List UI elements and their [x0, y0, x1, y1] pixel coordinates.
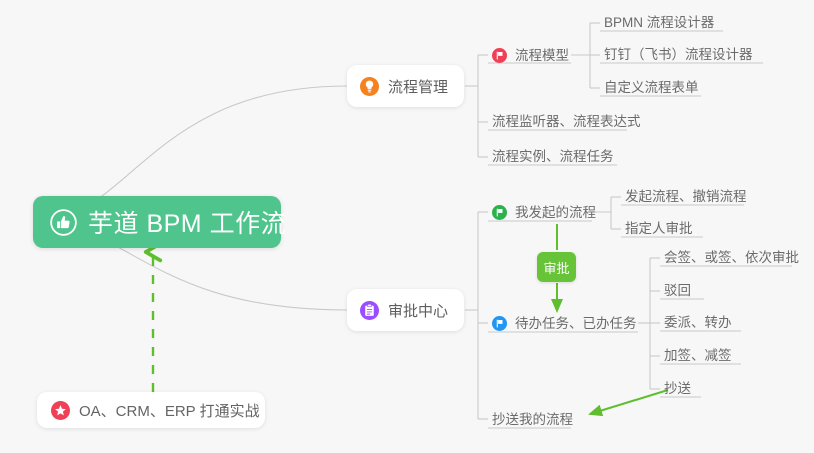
flag-icon [492, 48, 507, 63]
leaf-label: 抄送我的流程 [492, 413, 573, 427]
node-label: 待办任务、已办任务 [515, 317, 637, 331]
leaf-label: 加签、减签 [664, 349, 732, 363]
cc-arrow [590, 390, 668, 414]
leaf-bpmn-designer[interactable]: BPMN 流程设计器 [604, 16, 714, 30]
node-label: 流程模型 [515, 49, 569, 63]
mindmap-canvas: 芋道 BPM 工作流 流程管理 流程模型 BPMN 流程设计器 钉钉（飞书 [0, 0, 814, 453]
node-todo-done-tasks[interactable]: 待办任务、已办任务 [492, 316, 637, 331]
node-process-model[interactable]: 流程模型 [492, 48, 569, 63]
node-my-started-process[interactable]: 我发起的流程 [492, 205, 596, 220]
flag-icon [492, 316, 507, 331]
leaf-label: 会签、或签、依次审批 [664, 251, 799, 265]
leaf-label: 驳回 [664, 284, 691, 298]
star-icon [51, 401, 70, 420]
root-node[interactable]: 芋道 BPM 工作流 [33, 196, 281, 248]
leaf-label: BPMN 流程设计器 [604, 16, 714, 30]
branch-process-management[interactable]: 流程管理 [347, 65, 464, 107]
approval-badge-label: 审批 [543, 258, 569, 277]
leaf-label: 发起流程、撤销流程 [625, 190, 747, 204]
leaf-delegate-transfer[interactable]: 委派、转办 [664, 316, 732, 330]
approval-badge: 审批 [537, 252, 576, 282]
node-label: 我发起的流程 [515, 206, 596, 220]
leaf-reject[interactable]: 驳回 [664, 284, 691, 298]
leaf-start-cancel-process[interactable]: 发起流程、撤销流程 [625, 190, 747, 204]
leaf-cc-to-me[interactable]: 抄送我的流程 [492, 413, 573, 427]
leaf-label: 流程实例、流程任务 [492, 150, 614, 164]
leaf-cc[interactable]: 抄送 [664, 382, 691, 396]
lightbulb-icon [360, 77, 379, 96]
clipboard-icon [360, 301, 379, 320]
leaf-label: 钉钉（飞书）流程设计器 [604, 48, 753, 62]
branch-label: 流程管理 [388, 76, 448, 97]
leaf-process-instance[interactable]: 流程实例、流程任务 [492, 150, 614, 164]
leaf-custom-form[interactable]: 自定义流程表单 [604, 81, 699, 95]
leaf-countersign[interactable]: 会签、或签、依次审批 [664, 251, 799, 265]
leaf-label: 流程监听器、流程表达式 [492, 115, 641, 129]
leaf-label: 抄送 [664, 382, 691, 396]
integration-note-label: OA、CRM、ERP 打通实战 [79, 400, 260, 421]
leaf-label: 委派、转办 [664, 316, 732, 330]
flag-icon [492, 205, 507, 220]
leaf-designated-approver[interactable]: 指定人审批 [625, 222, 693, 236]
leaf-process-listener[interactable]: 流程监听器、流程表达式 [492, 115, 641, 129]
integration-note-card[interactable]: OA、CRM、ERP 打通实战 [37, 392, 265, 428]
branch-label: 审批中心 [388, 300, 448, 321]
leaf-label: 自定义流程表单 [604, 81, 699, 95]
leaf-dingtalk-designer[interactable]: 钉钉（飞书）流程设计器 [604, 48, 753, 62]
thumbs-up-icon [50, 209, 77, 236]
leaf-label: 指定人审批 [625, 222, 693, 236]
leaf-add-remove-sign[interactable]: 加签、减签 [664, 349, 732, 363]
branch-approval-center[interactable]: 审批中心 [347, 289, 464, 331]
root-label: 芋道 BPM 工作流 [88, 204, 286, 240]
